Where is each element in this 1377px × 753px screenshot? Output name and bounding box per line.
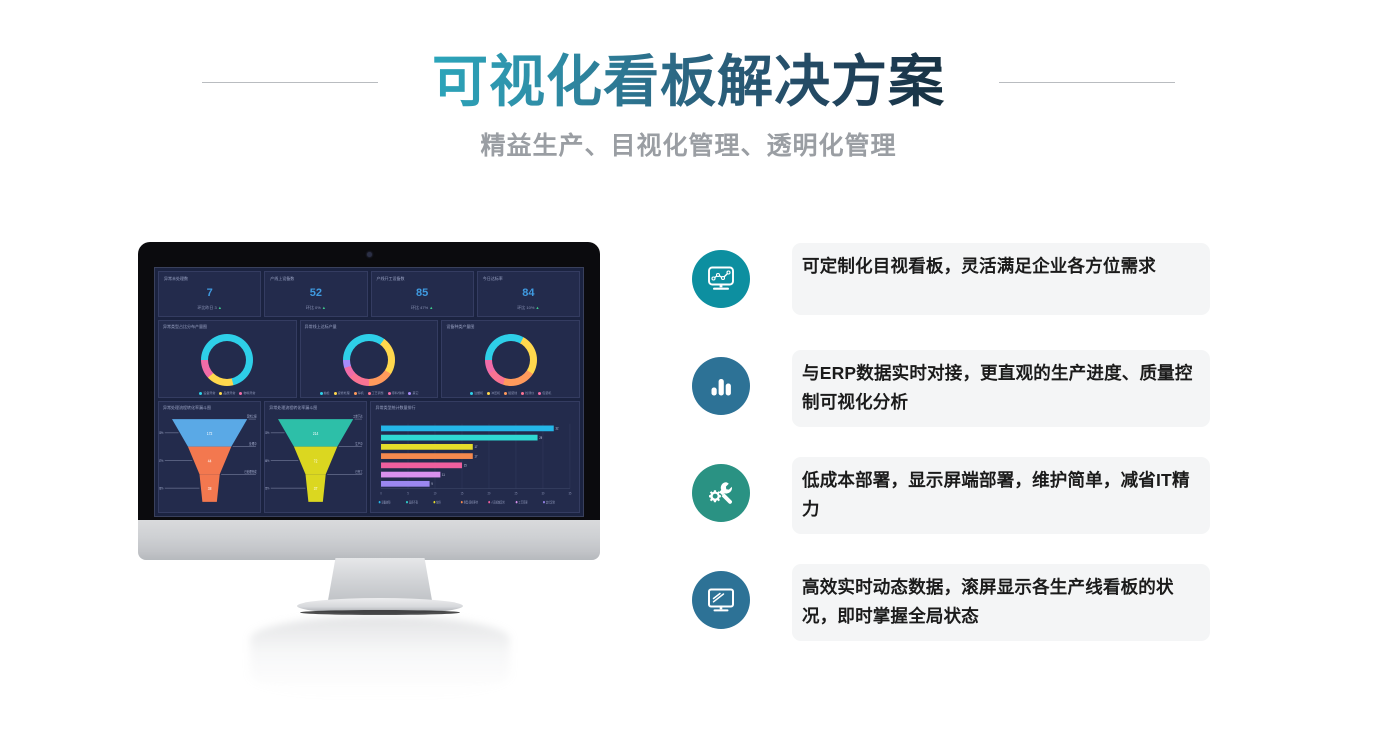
svg-text:9: 9	[432, 482, 434, 487]
svg-text:214: 214	[313, 430, 319, 436]
decorative-rule-left	[202, 82, 378, 83]
svg-text:35: 35	[569, 491, 572, 496]
feature-item-2[interactable]: 与ERP数据实时对接，更直观的生产进度、质量控制可视化分析	[692, 350, 1252, 457]
funnel-panel[interactable]: 异常处理流程转化率漏斗图 172异常上报100%44处理中47%38已处理完成2…	[158, 401, 261, 513]
feature-text: 高效实时动态数据，滚屏显示各生产线看板的状况，即时掌握全局状态	[802, 573, 1200, 631]
kpi-sub-label: 环比	[411, 305, 419, 310]
kpi-card[interactable]: 异常未处理数 7 环比昨日 3 ▲	[158, 271, 261, 317]
kpi-card[interactable]: 产线上设备数 52 环比 0% ▲	[264, 271, 367, 317]
page-header: 可视化看板解决方案 精益生产、目视化管理、透明化管理	[0, 0, 1377, 190]
donut-row: 异常类型占比分布产量图 设备异常品质异常物料异常 异常线上达标产量 抽检返修	[158, 320, 580, 398]
svg-text:25: 25	[515, 491, 518, 496]
donut-chart	[343, 334, 395, 386]
svg-text:0: 0	[381, 491, 383, 496]
legend-item: 物料异常	[239, 391, 255, 395]
svg-text:100%: 100%	[159, 431, 164, 436]
svg-text:37: 37	[314, 486, 318, 492]
legend-item: 注塑机	[470, 391, 483, 395]
legend-item: 抽检	[320, 391, 330, 395]
kpi-sub-value: 3	[215, 305, 217, 310]
donut-chart	[485, 334, 537, 386]
feature-text-box: 可定制化目视看板，灵活满足企业各方位需求	[792, 243, 1210, 315]
svg-text:生产中: 生产中	[356, 441, 363, 447]
feature-text: 低成本部署，显示屏端部署，维护简单，减省IT精力	[802, 466, 1200, 524]
legend-item: 冲压机	[487, 391, 500, 395]
webcam-icon	[367, 252, 372, 257]
monitor-bezel: 异常未处理数 7 环比昨日 3 ▲ 产线上设备数 52	[138, 242, 600, 530]
svg-text:46%: 46%	[265, 458, 270, 463]
monitor-screen: 异常未处理数 7 环比昨日 3 ▲ 产线上设备数 52	[154, 267, 584, 517]
svg-text:25%: 25%	[265, 486, 270, 491]
legend-item: 设备异常	[199, 391, 215, 395]
kpi-title: 产线开工设备数	[377, 276, 468, 282]
kpi-sub-label: 环比	[517, 305, 525, 310]
kpi-sub-value: 0%	[315, 305, 321, 310]
monitor-linechart-icon	[692, 250, 750, 308]
monitor-chin	[138, 520, 600, 560]
kpi-sub: 环比 0% ▲	[265, 305, 366, 311]
svg-text:26%: 26%	[159, 486, 164, 491]
donut-chart	[201, 334, 253, 386]
kpi-title: 异常未处理数	[164, 276, 255, 282]
legend-item: 其它	[408, 391, 418, 395]
svg-text:已处理完成: 已处理完成	[244, 468, 256, 474]
svg-text:20: 20	[488, 491, 491, 496]
bar-chart: 051015202530353229171715119设备故障品质不良缺料换型/…	[371, 412, 579, 510]
monitor-base-shadow	[300, 610, 460, 615]
feature-item-3[interactable]: 低成本部署，显示屏端部署，维护简单，减省IT精力	[692, 457, 1252, 564]
legend-item: 停机	[354, 391, 364, 395]
svg-text:10: 10	[434, 491, 437, 496]
kpi-sub: 环比 47% ▲	[372, 305, 473, 311]
feature-text: 可定制化目视看板，灵活满足企业各方位需求	[802, 252, 1200, 281]
kpi-value: 84	[478, 287, 579, 299]
kpi-sub-value: 47%	[420, 305, 428, 310]
donut-legend: 注塑机冲压机组装线检测仪包装机	[442, 391, 579, 395]
kpi-value: 52	[265, 287, 366, 299]
svg-text:工单下达: 工单下达	[353, 413, 363, 419]
svg-text:品质不良: 品质不良	[409, 500, 418, 505]
trend-up-icon: ▲	[429, 305, 433, 310]
svg-text:处理中: 处理中	[249, 441, 256, 447]
feature-text-box: 与ERP数据实时对接，更直观的生产进度、质量控制可视化分析	[792, 350, 1210, 427]
feature-list: 可定制化目视看板，灵活满足企业各方位需求 与ERP数据实时对接，更直观的生产进度…	[692, 243, 1252, 671]
kpi-sub: 环比昨日 3 ▲	[159, 305, 260, 311]
kpi-title: 产线上设备数	[270, 276, 361, 282]
donut-panel[interactable]: 异常类型占比分布产量图 设备异常品质异常物料异常	[158, 320, 297, 398]
svg-text:已完工: 已完工	[356, 468, 363, 474]
svg-text:15: 15	[461, 491, 464, 496]
wrench-gear-icon	[692, 464, 750, 522]
panel-title: 设备种类产量图	[446, 324, 474, 330]
svg-text:设备故障: 设备故障	[382, 500, 391, 505]
funnel-chart: 214工单下达100%72生产中46%37已完工25%	[265, 413, 366, 509]
svg-text:11: 11	[443, 473, 446, 478]
legend-item: 包装机	[538, 391, 551, 395]
dashboard: 异常未处理数 7 环比昨日 3 ▲ 产线上设备数 52	[155, 268, 583, 516]
svg-text:32: 32	[556, 426, 559, 431]
display-screen-icon	[692, 571, 750, 629]
svg-text:172: 172	[207, 430, 212, 436]
bar-chart-panel[interactable]: 异常类型统计数量排行 051015202530353229171715119设备…	[370, 401, 580, 513]
bar-chart-icon	[692, 357, 750, 415]
donut-panel[interactable]: 异常线上达标产量 抽检返修处理停机工艺调整待料/缺料其它	[300, 320, 439, 398]
kpi-sub: 环比 10% ▲	[478, 305, 579, 311]
donut-panel[interactable]: 设备种类产量图 注塑机冲压机组装线检测仪包装机	[441, 320, 580, 398]
svg-text:15: 15	[464, 463, 467, 468]
panel-title: 异常类型统计数量排行	[375, 405, 415, 411]
funnel-panel[interactable]: 异常处理流程转化率漏斗图 214工单下达100%72生产中46%37已完工25%	[264, 401, 367, 513]
kpi-sub-value: 10%	[526, 305, 534, 310]
monitor-reflection	[250, 616, 510, 698]
title-row: 可视化看板解决方案	[0, 42, 1377, 122]
trend-up-icon: ▲	[536, 305, 540, 310]
donut-chart-area	[301, 333, 438, 387]
svg-text:换型/调机等待: 换型/调机等待	[464, 500, 479, 505]
svg-text:5: 5	[408, 491, 410, 496]
legend-item: 工艺调整	[368, 391, 384, 395]
panel-title: 异常处理流程转化率漏斗图	[269, 405, 317, 411]
page-subtitle: 精益生产、目视化管理、透明化管理	[0, 126, 1377, 162]
kpi-sub-label: 环比昨日	[197, 305, 213, 310]
kpi-title: 今日达标率	[483, 276, 574, 282]
svg-text:异常上报: 异常上报	[247, 413, 257, 419]
svg-text:17: 17	[475, 454, 478, 459]
kpi-value: 85	[372, 287, 473, 299]
svg-text:30: 30	[542, 491, 545, 496]
svg-text:工艺变更: 工艺变更	[519, 500, 528, 505]
kpi-card[interactable]: 今日达标率 84 环比 10% ▲	[477, 271, 580, 317]
trend-up-icon: ▲	[322, 305, 326, 310]
legend-item: 检测仪	[521, 391, 534, 395]
legend-item: 待料/缺料	[388, 391, 405, 395]
kpi-value: 7	[159, 287, 260, 299]
feature-item-1[interactable]: 可定制化目视看板，灵活满足企业各方位需求	[692, 243, 1252, 350]
page-title: 可视化看板解决方案	[432, 43, 945, 121]
svg-text:人员短缺异常: 人员短缺异常	[492, 500, 506, 505]
kpi-card[interactable]: 产线开工设备数 85 环比 47% ▲	[371, 271, 474, 317]
panel-title: 异常线上达标产量	[305, 324, 337, 330]
kpi-row: 异常未处理数 7 环比昨日 3 ▲ 产线上设备数 52	[158, 271, 580, 317]
page-root: 可视化看板解决方案 精益生产、目视化管理、透明化管理 异常未处理数 7 环比昨日	[0, 0, 1377, 753]
decorative-rule-right	[999, 82, 1175, 83]
kpi-sub-label: 环比	[306, 305, 314, 310]
donut-legend: 抽检返修处理停机工艺调整待料/缺料其它	[301, 391, 438, 395]
svg-text:47%: 47%	[159, 458, 164, 463]
svg-text:29: 29	[540, 436, 543, 441]
svg-text:17: 17	[475, 445, 478, 450]
svg-text:100%: 100%	[265, 431, 270, 436]
donut-chart-area	[442, 333, 579, 387]
funnel-chart: 172异常上报100%44处理中47%38已处理完成26%	[159, 413, 260, 509]
panel-title: 异常处理流程转化率漏斗图	[163, 405, 211, 411]
bottom-row: 异常处理流程转化率漏斗图 172异常上报100%44处理中47%38已处理完成2…	[158, 401, 580, 513]
svg-text:72: 72	[314, 458, 318, 464]
legend-item: 返修处理	[334, 391, 350, 395]
monitor-mockup: 异常未处理数 7 环比昨日 3 ▲ 产线上设备数 52	[120, 228, 640, 658]
donut-legend: 设备异常品质异常物料异常	[159, 391, 296, 395]
trend-up-icon: ▲	[218, 305, 222, 310]
legend-item: 品质异常	[219, 391, 235, 395]
donut-chart-area	[159, 333, 296, 387]
feature-text-box: 高效实时动态数据，滚屏显示各生产线看板的状况，即时掌握全局状态	[792, 564, 1210, 641]
svg-text:缺料: 缺料	[437, 500, 442, 505]
panel-title: 异常类型占比分布产量图	[163, 324, 207, 330]
feature-item-4[interactable]: 高效实时动态数据，滚屏显示各生产线看板的状况，即时掌握全局状态	[692, 564, 1252, 671]
legend-item: 组装线	[504, 391, 517, 395]
feature-text: 与ERP数据实时对接，更直观的生产进度、质量控制可视化分析	[802, 359, 1200, 417]
svg-text:其它异常: 其它异常	[546, 500, 555, 505]
feature-text-box: 低成本部署，显示屏端部署，维护简单，减省IT精力	[792, 457, 1210, 534]
